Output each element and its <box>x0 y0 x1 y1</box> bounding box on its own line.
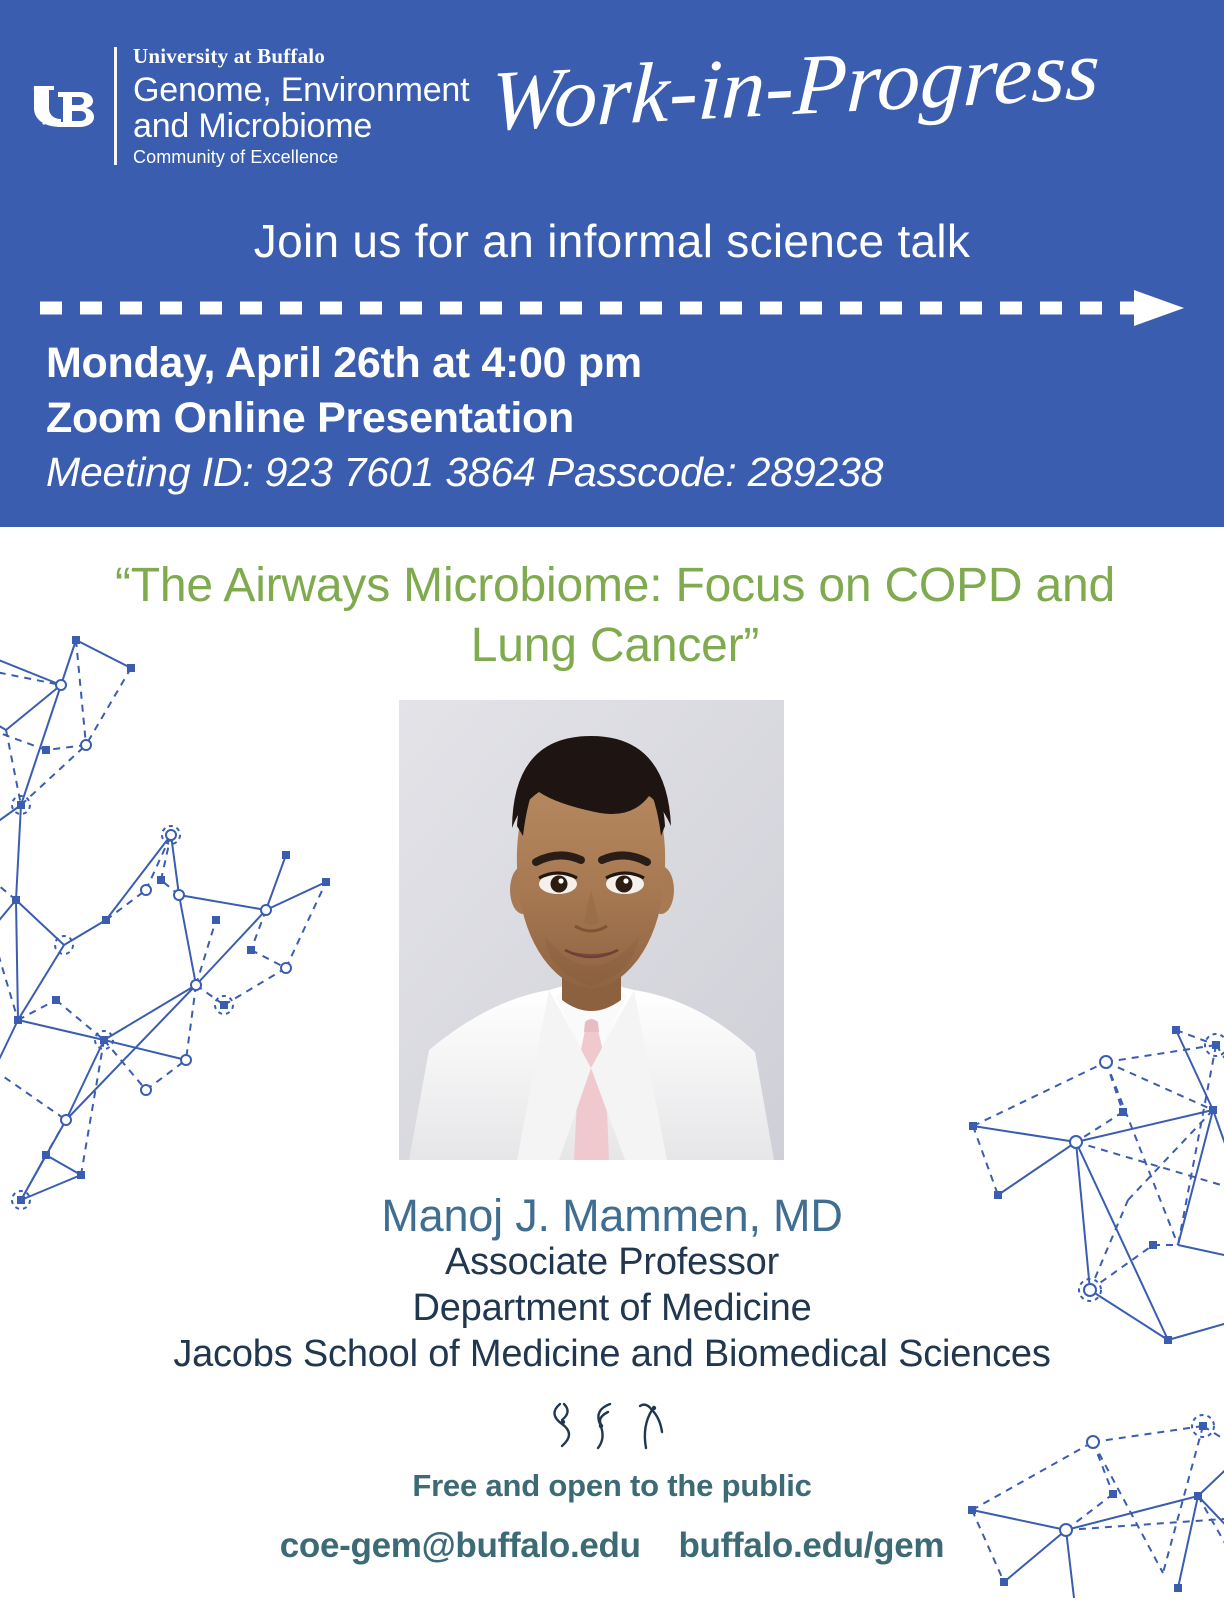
speaker-name: Manoj J. Mammen, MD <box>0 1192 1224 1240</box>
logo-university-line: University at Buffalo <box>133 46 469 67</box>
logo-coe-line: Community of Excellence <box>133 148 469 166</box>
contact-website[interactable]: buffalo.edu/gem <box>678 1526 944 1565</box>
event-datetime: Monday, April 26th at 4:00 pm <box>46 336 883 391</box>
header-banner: University at Buffalo Genome, Environmen… <box>0 0 1224 527</box>
speaker-block: Manoj J. Mammen, MD Associate Professor … <box>0 1192 1224 1378</box>
logo-wordmark: University at Buffalo Genome, Environmen… <box>133 46 469 166</box>
series-title-text: Work-in-Progress <box>490 44 1102 149</box>
series-title: Work-in-Progress <box>490 44 1180 166</box>
dashed-arrow-icon <box>38 288 1186 328</box>
microbe-glyphs-icon <box>0 1398 1224 1459</box>
ub-logo-block: University at Buffalo Genome, Environmen… <box>28 46 469 166</box>
speaker-department: Department of Medicine <box>0 1286 1224 1332</box>
contact-links: coe-gem@buffalo.edu buffalo.edu/gem <box>0 1526 1224 1566</box>
logo-divider <box>114 47 117 165</box>
ub-monogram-icon <box>28 70 100 142</box>
speaker-school: Jacobs School of Medicine and Biomedical… <box>0 1332 1224 1378</box>
admission-note: Free and open to the public <box>0 1468 1224 1504</box>
event-details: Monday, April 26th at 4:00 pm Zoom Onlin… <box>46 336 883 499</box>
speaker-photo <box>399 700 784 1160</box>
event-format: Zoom Online Presentation <box>46 391 883 446</box>
logo-unit-line-2: and Microbiome <box>133 108 469 144</box>
network-graphic-left <box>0 600 336 1270</box>
contact-email[interactable]: coe-gem@buffalo.edu <box>280 1526 641 1565</box>
speaker-rank: Associate Professor <box>0 1240 1224 1286</box>
tagline: Join us for an informal science talk <box>0 214 1224 268</box>
footer-block: Free and open to the public coe-gem@buff… <box>0 1468 1224 1566</box>
zoom-meeting-credentials: Meeting ID: 923 7601 3864 Passcode: 2892… <box>46 446 883 499</box>
logo-unit-line-1: Genome, Environment <box>133 72 469 108</box>
